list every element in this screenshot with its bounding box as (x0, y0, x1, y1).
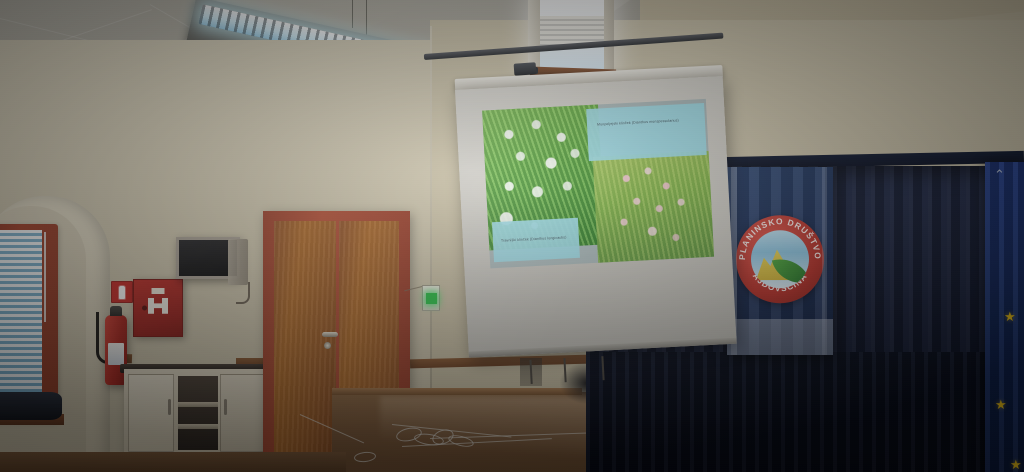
floor-foreground (0, 452, 346, 472)
cabinet-shelf (178, 424, 218, 429)
exit-lamp (426, 293, 437, 304)
club-banner: PLANINSKO DRUŠTVO AJDOVŠČINA (727, 167, 833, 355)
cabinet-knob[interactable] (142, 306, 147, 311)
cabinet-tag (152, 288, 165, 294)
eu-flag: ★★★ (985, 162, 1024, 472)
storage-cabinet[interactable] (124, 369, 266, 461)
slide-caption-bottom: Travniški klinček (Dianthus longicaulis) (492, 218, 580, 262)
venetian-blinds[interactable] (0, 230, 42, 414)
projection-screen: Monpeljejski klinček (Dianthus monspessu… (455, 76, 737, 358)
cabinet-handle[interactable] (224, 399, 227, 415)
eu-star-icon: ★ (1004, 310, 1016, 323)
logo-emblem (751, 230, 809, 288)
blind-cord[interactable] (44, 232, 46, 322)
extinguisher-glyph (119, 286, 125, 299)
cabinet-handle[interactable] (168, 399, 171, 415)
extinguisher-label (108, 343, 124, 365)
left-window-glass (0, 230, 42, 414)
door-handle[interactable] (322, 332, 338, 337)
emergency-exit-sign-icon (422, 285, 440, 311)
flag-pole-tip-icon: ⌃ (994, 168, 1006, 182)
upper-window-frame-right (604, 0, 614, 78)
monitor-mount-arm (228, 239, 248, 285)
monitor-cable (236, 282, 250, 304)
screen-leg (563, 358, 566, 382)
screen-tripod-legs (527, 354, 608, 384)
hydrant-h-icon (148, 298, 168, 314)
object-on-sill (0, 392, 62, 420)
projected-slide: Monpeljejski klinček (Dianthus monspessu… (482, 99, 714, 269)
screen-leg (529, 360, 532, 384)
banner-lower-panel (727, 319, 833, 355)
cabinet-open-bay (178, 376, 218, 450)
screen-leg (601, 356, 604, 380)
stage-curtain-lower (586, 352, 1024, 472)
fire-hose-cabinet[interactable] (133, 279, 183, 337)
club-logo: PLANINSKO DRUŠTVO AJDOVŠČINA (736, 215, 824, 303)
lecture-hall-photo: PLANINSKO DRUŠTVO AJDOVŠČINA ★★★ ⌃ Monpe… (0, 0, 1024, 472)
hanger-wire (352, 0, 353, 28)
eu-star-icon: ★ (995, 398, 1007, 411)
eu-star-icon: ★ (1010, 458, 1022, 471)
door-lock-icon[interactable] (324, 342, 331, 349)
fire-extinguisher-sign-icon (111, 281, 133, 303)
floor-skirting (332, 388, 582, 395)
slide-caption-top: Monpeljejski klinček (Dianthus monspessu… (586, 103, 707, 161)
cabinet-shelf (178, 402, 218, 407)
slide-photo-right (593, 151, 714, 263)
screen-rail-bracket (514, 62, 537, 76)
